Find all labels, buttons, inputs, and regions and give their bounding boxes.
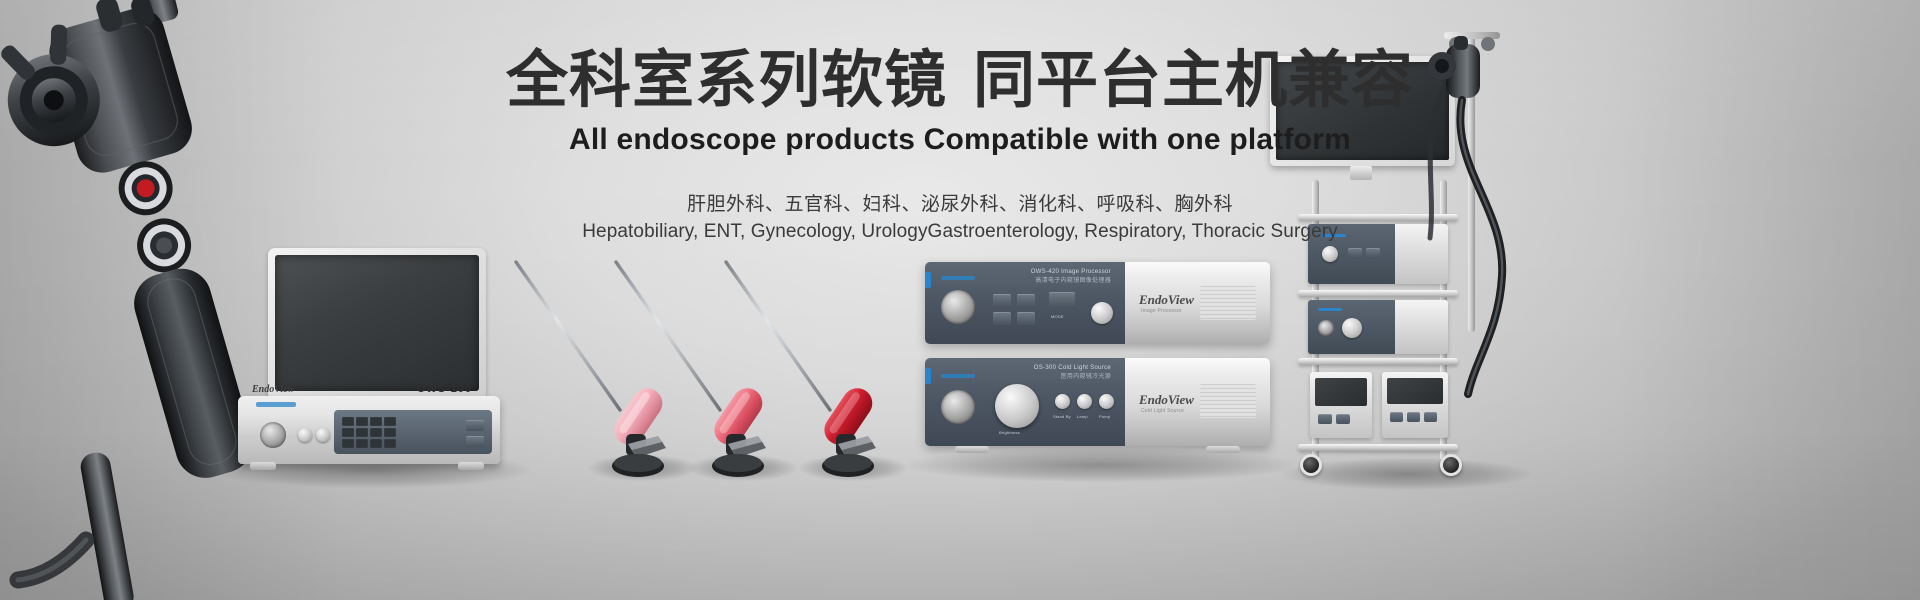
departments-chinese: 肝胆外科、五官科、妇科、泌尿外科、消化科、呼吸科、胸外科 xyxy=(0,189,1920,216)
cart-device-2-port[interactable] xyxy=(1318,320,1334,336)
light-source-front-panel: OS-300 Cold Light Source 医用内窥镜冷光源 Bright… xyxy=(925,358,1125,446)
departments-english: Hepatobiliary, ENT, Gynecology, UrologyG… xyxy=(0,221,1920,243)
image-processor-brand: EndoView xyxy=(1139,292,1194,308)
image-processor-scope-port[interactable] xyxy=(941,290,975,324)
cart-shelf-4 xyxy=(1298,444,1458,451)
console-brand: EndoView xyxy=(252,384,294,395)
page-subtitle: All endoscope products Compatible with o… xyxy=(0,123,1920,157)
image-processor-button-mode[interactable] xyxy=(993,294,1011,307)
cart-device-2-knob[interactable] xyxy=(1342,318,1362,338)
console-knob[interactable] xyxy=(298,428,312,442)
product-banner: 全科室系列软镜同平台主机兼容 All endoscope products Co… xyxy=(0,0,1920,600)
console-side-button-2[interactable] xyxy=(466,436,484,447)
console-side-button[interactable] xyxy=(466,420,484,431)
light-source-label-lamp: Lamp xyxy=(1077,414,1088,419)
console-foot-left xyxy=(250,462,276,470)
headline-part-2: 同平台主机兼容 xyxy=(973,46,1414,115)
cart-device-1-button-2[interactable] xyxy=(1366,248,1380,258)
light-source-accent-tab xyxy=(925,368,931,384)
image-processor-vent xyxy=(1200,286,1256,320)
light-source-button-lamp[interactable] xyxy=(1077,394,1092,409)
cart-device-3-button[interactable] xyxy=(1318,414,1332,424)
console-monitor-glass xyxy=(275,255,479,391)
image-processor-body: OWS-420 Image Processor 高清电子内窥镜图像处理器 MOD… xyxy=(925,262,1270,344)
light-source-vent xyxy=(1200,384,1256,418)
light-source-brightness-knob[interactable] xyxy=(995,384,1039,428)
console-knob-2[interactable] xyxy=(316,428,330,442)
light-source-brightness-label: Brightness xyxy=(999,430,1020,435)
image-processor-button-set[interactable] xyxy=(993,312,1011,325)
console-base: EndoView OWS-100 xyxy=(238,396,500,464)
cart-device-2-led xyxy=(1318,308,1342,311)
rigid-scope-red-svg xyxy=(718,258,898,488)
monitor-console-unit: EndoView OWS-100 xyxy=(232,248,502,473)
light-source-fiber-port[interactable] xyxy=(941,390,975,424)
image-processor-button-extra[interactable] xyxy=(1017,312,1035,325)
processor-stack-shadow xyxy=(905,448,1295,482)
console-indicator-bar xyxy=(256,402,296,407)
console-model: OWS-100 xyxy=(417,383,472,395)
cart-device-1-button[interactable] xyxy=(1348,248,1362,258)
image-processor-label-mode: MODE xyxy=(1051,314,1064,319)
rigid-scope-red xyxy=(718,258,878,483)
headline-part-1: 全科室系列软镜 xyxy=(506,46,947,115)
light-source-brand: EndoView xyxy=(1139,392,1194,408)
console-control-panel xyxy=(334,410,492,454)
light-source-foot-left xyxy=(955,446,989,453)
cart-device-3 xyxy=(1310,372,1372,438)
cart-device-4-button[interactable] xyxy=(1390,412,1403,422)
console-monitor xyxy=(268,248,486,400)
console-connector-port[interactable] xyxy=(260,422,286,448)
light-source-title: OS-300 Cold Light Source 医用内窥镜冷光源 xyxy=(1034,365,1111,380)
cart-device-1-knob[interactable] xyxy=(1322,246,1338,262)
banner-text-block: 全科室系列软镜同平台主机兼容 All endoscope products Co… xyxy=(0,48,1920,243)
cart-device-3-button-2[interactable] xyxy=(1336,414,1350,424)
image-processor-button-menu[interactable] xyxy=(1017,294,1035,307)
image-processor-sub: Image Processor xyxy=(1141,308,1182,314)
light-source-foot-right xyxy=(1206,446,1240,453)
cart-wheel-left xyxy=(1300,454,1322,476)
light-source-button-standby[interactable] xyxy=(1055,394,1070,409)
light-source-unit: OS-300 Cold Light Source 医用内窥镜冷光源 Bright… xyxy=(925,358,1270,446)
image-processor-button-power[interactable] xyxy=(1049,292,1075,308)
light-source-title-cn: 医用内窥镜冷光源 xyxy=(1034,371,1111,380)
image-processor-title: OWS-420 Image Processor 高清电子内窥镜图像处理器 xyxy=(1031,269,1111,284)
image-processor-knob[interactable] xyxy=(1091,302,1113,324)
image-processor-unit: OWS-420 Image Processor 高清电子内窥镜图像处理器 MOD… xyxy=(925,262,1270,344)
light-source-body: OS-300 Cold Light Source 医用内窥镜冷光源 Bright… xyxy=(925,358,1270,446)
light-source-label-pump: Pump xyxy=(1099,414,1110,419)
image-processor-title-cn: 高清电子内窥镜图像处理器 xyxy=(1031,275,1111,284)
light-source-sub: Cold Light Source xyxy=(1141,408,1184,414)
image-processor-status-led xyxy=(941,276,975,280)
cart-wheel-right xyxy=(1440,454,1462,476)
console-foot-right xyxy=(458,462,484,470)
image-processor-front-panel: OWS-420 Image Processor 高清电子内窥镜图像处理器 MOD… xyxy=(925,262,1125,344)
console-keypad[interactable] xyxy=(342,417,396,448)
image-processor-accent-tab xyxy=(925,272,931,288)
cart-device-3-display xyxy=(1315,378,1367,406)
light-source-button-pump[interactable] xyxy=(1099,394,1114,409)
light-source-label-standby: Stand By xyxy=(1053,414,1071,419)
light-source-status-led xyxy=(941,374,975,378)
page-title: 全科室系列软镜同平台主机兼容 xyxy=(0,48,1920,115)
